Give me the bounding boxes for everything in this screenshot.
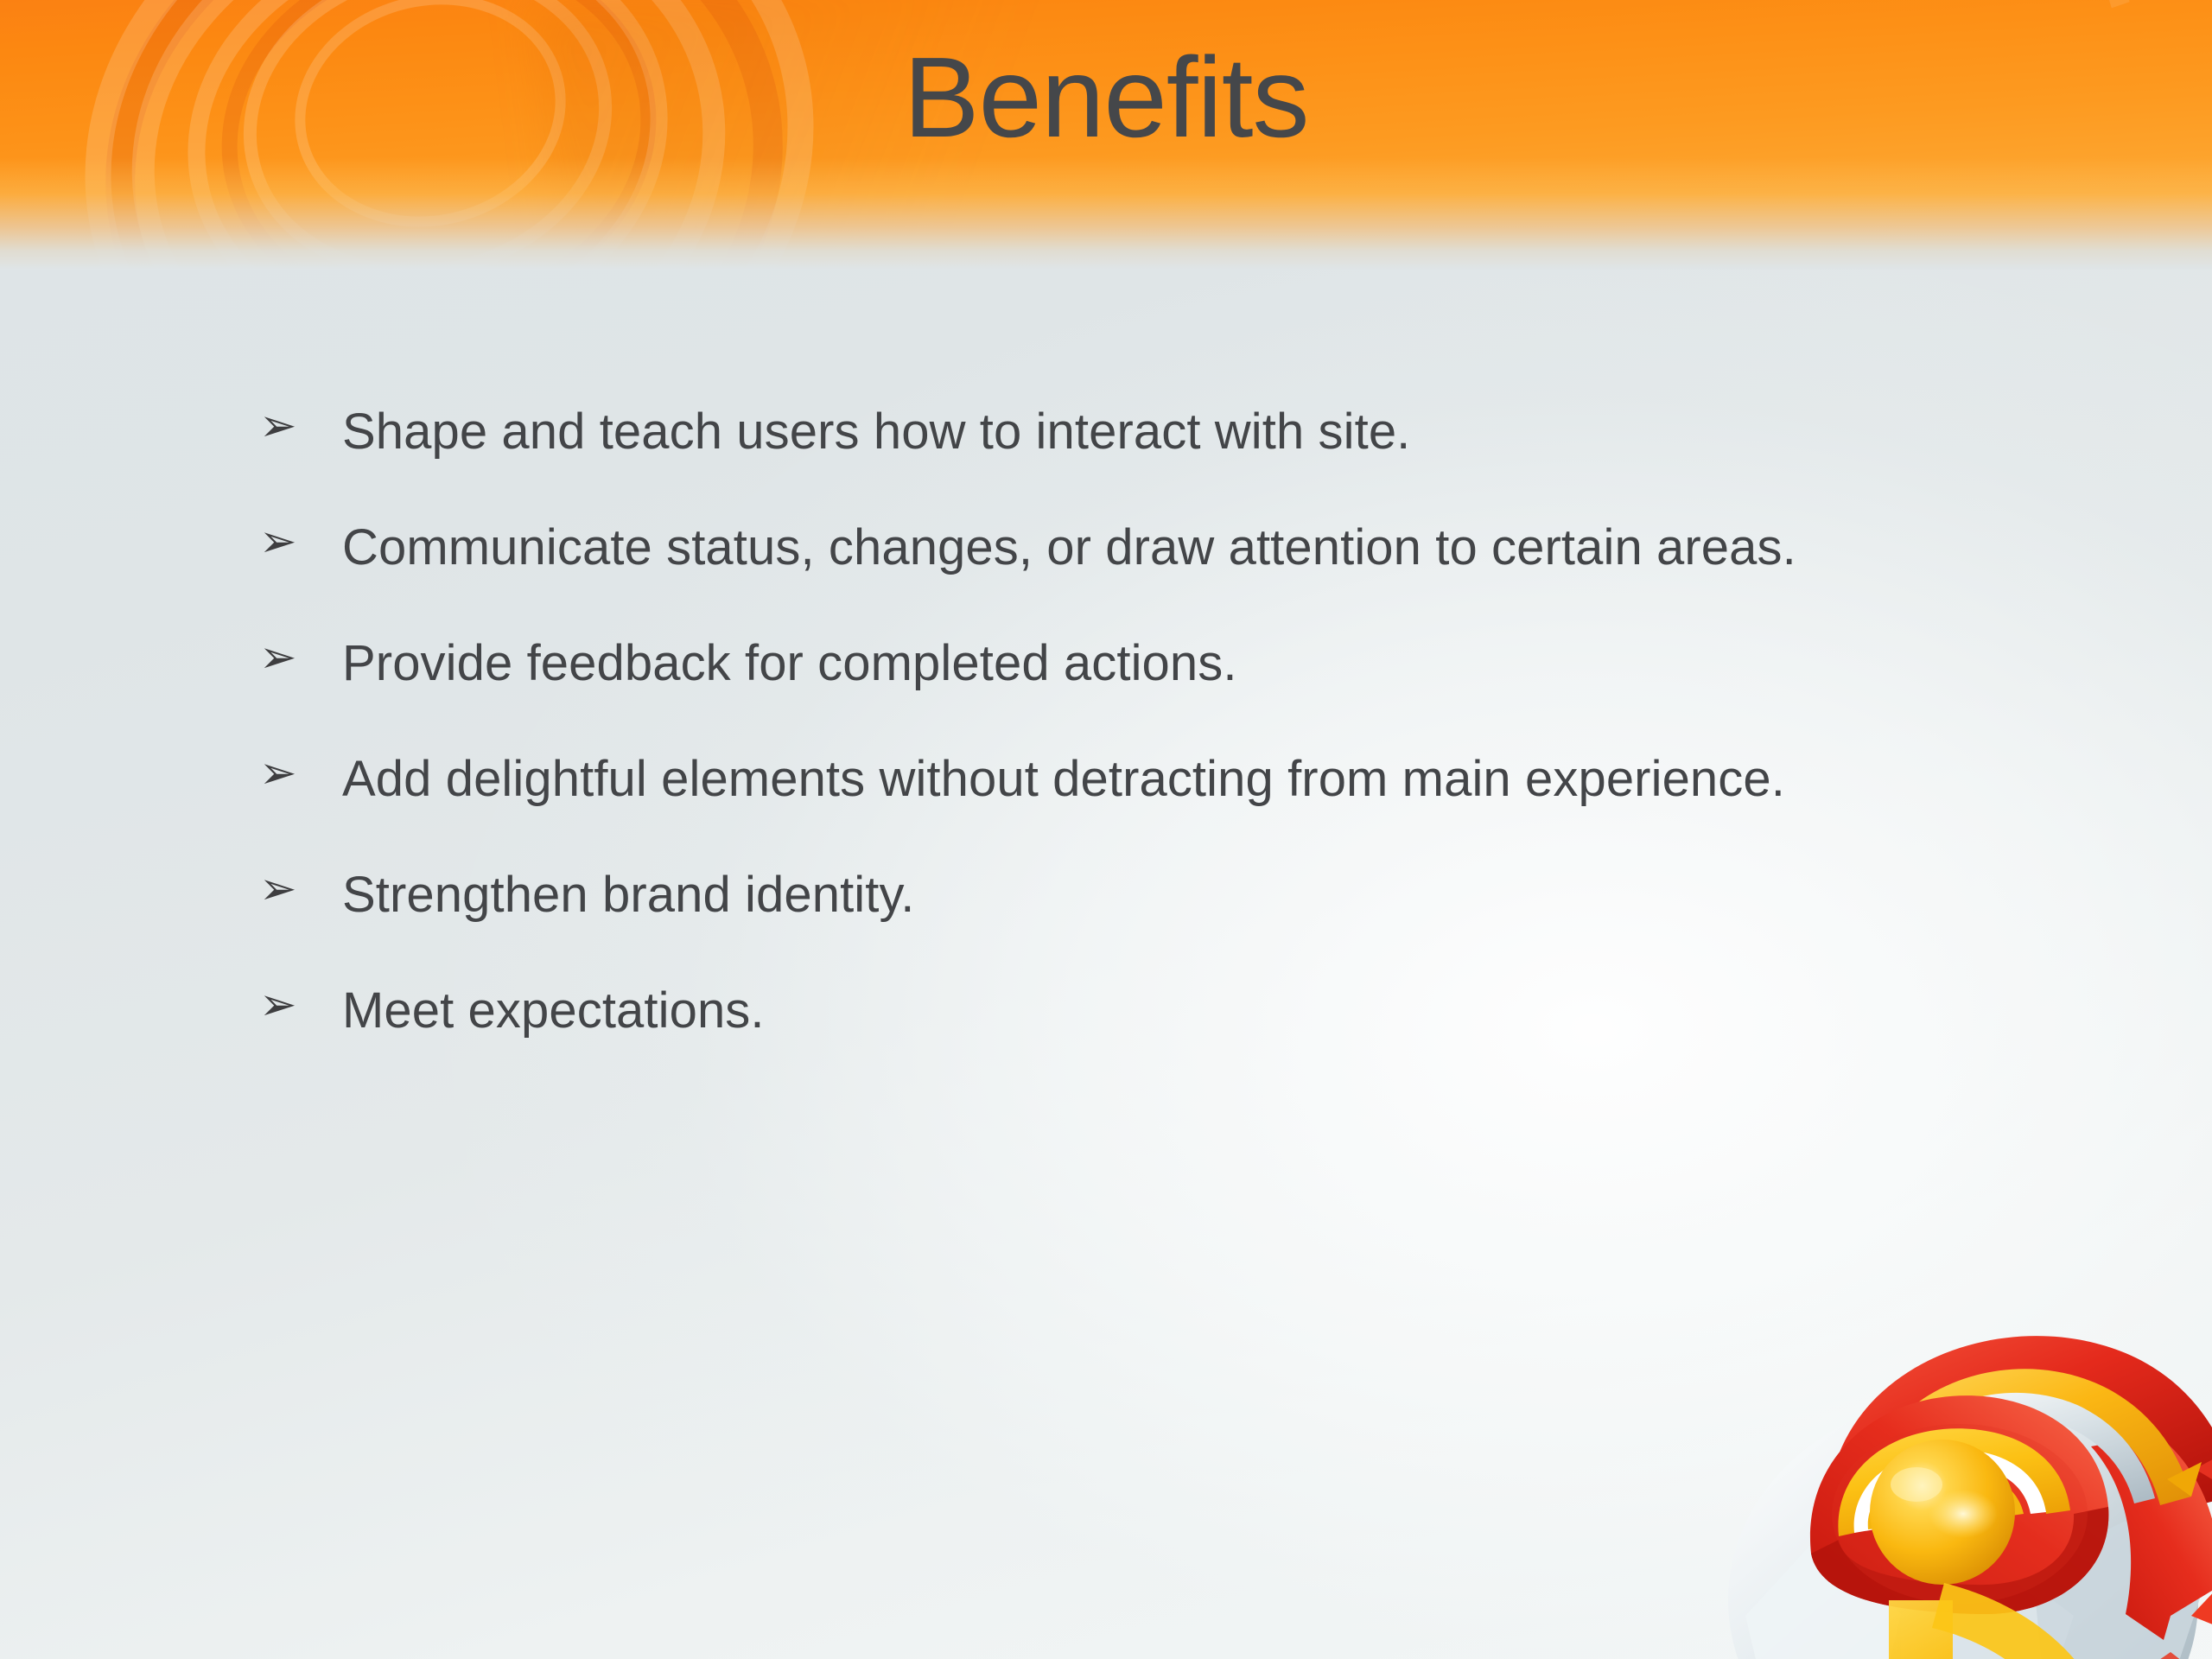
decor-white-ribbon	[1882, 1393, 2155, 1503]
corner-decoration-graphic	[1642, 1210, 2212, 1659]
slide: Benefits ➢ Shape and teach users how to …	[0, 0, 2212, 1659]
decor-outer-red-ribbon	[1830, 1336, 2212, 1640]
decor-lower-red-accent	[2074, 1652, 2212, 1659]
arrow-bullet-icon: ➢	[259, 738, 342, 809]
decor-silver-body	[1728, 1396, 2200, 1659]
decor-gold-orb	[1870, 1440, 2015, 1585]
bullet-text: Communicate status, changes, or draw att…	[342, 506, 1970, 589]
arrow-bullet-icon: ➢	[259, 969, 342, 1040]
arrow-bullet-icon: ➢	[259, 622, 342, 693]
arrow-bullet-icon: ➢	[259, 391, 342, 461]
header-bottom-fade	[0, 157, 2212, 270]
slide-body-bullet-list: ➢ Shape and teach users how to interact …	[259, 391, 1970, 1085]
bullet-item: ➢ Provide feedback for completed actions…	[259, 622, 1970, 705]
bullet-text: Provide feedback for completed actions.	[342, 622, 1970, 705]
slide-title: Benefits	[0, 38, 2212, 158]
bullet-item: ➢ Communicate status, changes, or draw a…	[259, 506, 1970, 589]
arrow-bullet-icon: ➢	[259, 506, 342, 577]
bullet-item: ➢ Strengthen brand identity.	[259, 854, 1970, 937]
bullet-item: ➢ Add delightful elements without detrac…	[259, 738, 1970, 821]
bullet-text: Shape and teach users how to interact wi…	[342, 391, 1970, 474]
decor-gold-ribbon	[1861, 1369, 2202, 1505]
decor-inner-red-ring	[1810, 1395, 2108, 1614]
decor-inner-rings	[1838, 1428, 2070, 1536]
bullet-text: Add delightful elements without detracti…	[342, 738, 1970, 821]
bullet-text: Meet expectations.	[342, 969, 1970, 1052]
arrow-bullet-icon: ➢	[259, 854, 342, 925]
bullet-text: Strengthen brand identity.	[342, 854, 1970, 937]
decor-yellow-arrow	[1889, 1583, 2122, 1659]
bullet-item: ➢ Shape and teach users how to interact …	[259, 391, 1970, 474]
bullet-item: ➢ Meet expectations.	[259, 969, 1970, 1052]
